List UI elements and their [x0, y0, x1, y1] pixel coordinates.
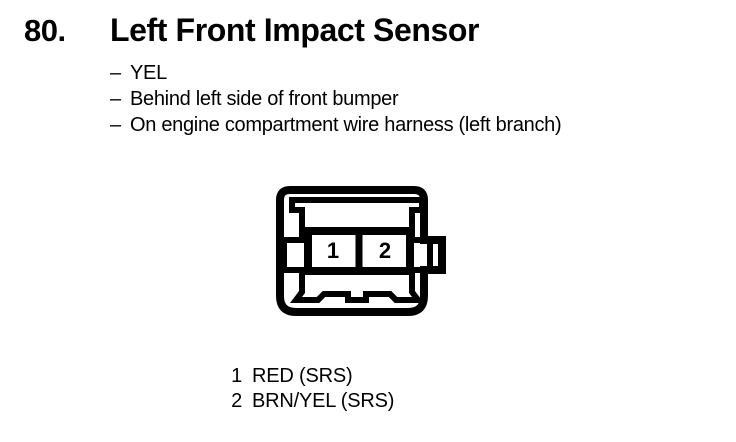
pin-legend-number: 2 [228, 389, 242, 414]
pin-cavity-number-2: 2 [379, 238, 391, 263]
spec-list-item: – On engine compartment wire harness (le… [110, 112, 730, 138]
spec-list-item: – Behind left side of front bumper [110, 86, 730, 112]
spec-list-item: – YEL [110, 60, 730, 86]
pin-legend-wire-label: RED (SRS) [252, 364, 352, 389]
page-header: 80. Left Front Impact Sensor [0, 8, 736, 54]
pin-legend-number: 1 [228, 364, 242, 389]
pin-legend-row: 2 BRN/YEL (SRS) [228, 389, 528, 414]
connector-diagram: 1 2 [252, 178, 462, 334]
spec-item-label: Behind left side of front bumper [130, 86, 398, 112]
spec-item-label: On engine compartment wire harness (left… [130, 112, 561, 138]
dash-bullet-icon: – [110, 60, 126, 86]
dash-bullet-icon: – [110, 112, 126, 138]
pin-legend: 1 RED (SRS) 2 BRN/YEL (SRS) [228, 364, 528, 414]
spec-item-label: YEL [130, 60, 167, 86]
specification-list: – YEL – Behind left side of front bumper… [110, 60, 730, 138]
dash-bullet-icon: – [110, 86, 126, 112]
page-title: Left Front Impact Sensor [110, 10, 479, 50]
item-number: 80. [24, 12, 66, 50]
connector-outline-svg: 1 2 [252, 178, 462, 334]
pin-legend-row: 1 RED (SRS) [228, 364, 528, 389]
pin-cavity-number-1: 1 [327, 238, 339, 263]
pin-legend-wire-label: BRN/YEL (SRS) [252, 389, 394, 414]
wiring-diagram-page: 80. Left Front Impact Sensor – YEL – Beh… [0, 0, 736, 442]
